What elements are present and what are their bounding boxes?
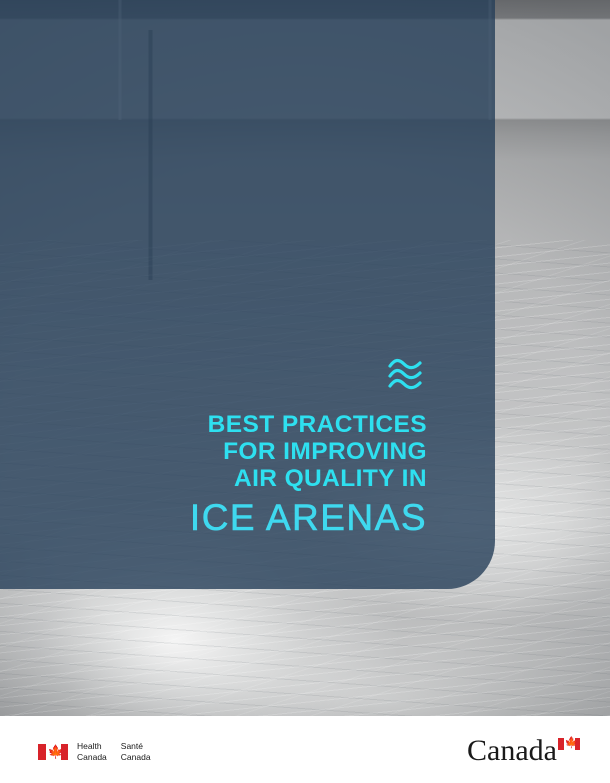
title-line-3: AIR QUALITY IN [47,465,427,492]
department-en-line1: Health [77,741,107,752]
title-line-1: BEST PRACTICES [47,411,427,438]
department-fr-line1: Santé [121,741,151,752]
wave-icon [387,357,427,393]
cover-title: BEST PRACTICES FOR IMPROVING AIR QUALITY… [47,411,427,542]
department-name-fr: Santé Canada [121,741,151,762]
maple-leaf-icon: 🍁 [48,745,59,759]
title-overlay-panel: BEST PRACTICES FOR IMPROVING AIR QUALITY… [0,0,495,589]
canadian-flag-icon: 🍁 [38,744,68,760]
cover-image: BEST PRACTICES FOR IMPROVING AIR QUALITY… [0,0,610,716]
title-block: BEST PRACTICES FOR IMPROVING AIR QUALITY… [47,357,427,542]
department-fr-line2: Canada [121,752,151,763]
department-en-line2: Canada [77,752,107,763]
health-canada-signature: 🍁 Health Canada Santé Canada [38,741,151,762]
canada-wordmark: Canada 🍁 [467,736,580,766]
canada-wordmark-text: Canada [467,736,557,766]
title-subject: ICE ARENAS [47,494,427,542]
canada-wordmark-flag-icon: 🍁 [558,738,580,750]
footer: 🍁 Health Canada Santé Canada Canada 🍁 [0,716,610,783]
wordmark-maple-leaf-icon: 🍁 [565,737,574,749]
department-names: Health Canada Santé Canada [77,741,151,762]
department-name-en: Health Canada [77,741,107,762]
title-line-2: FOR IMPROVING [47,438,427,465]
